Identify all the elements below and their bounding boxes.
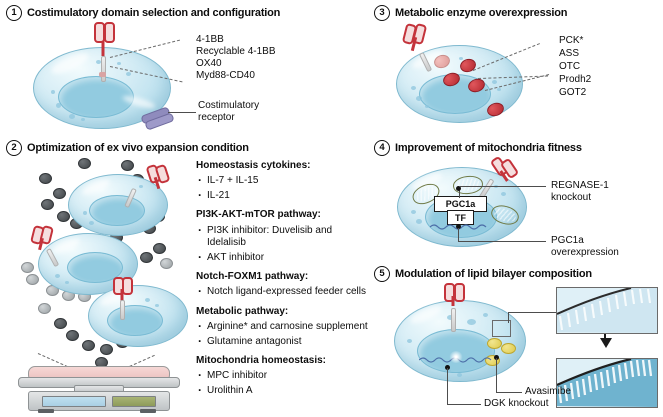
costimulatory-receptor-label-2: receptor — [198, 112, 235, 124]
leader-line — [459, 190, 460, 198]
domain-label-4-1bb: 4-1BB — [196, 34, 224, 46]
group-heading-metabolic-pathway: Metabolic pathway: — [196, 306, 371, 319]
car-intracellular-domain — [120, 300, 125, 320]
list-item: Notch ligand-expressed feeder cells — [196, 286, 371, 298]
costim-domain-marker — [99, 72, 106, 77]
car-receptor-panel5 — [442, 283, 464, 311]
panel-4-number: 4 — [374, 140, 390, 156]
list-item: MPC inhibitor — [196, 370, 371, 382]
vesicle — [117, 62, 121, 65]
leader-line — [496, 392, 522, 393]
list-item: IL-21 — [196, 190, 371, 202]
domain-label-myd88-cd40: Myd88-CD40 — [196, 70, 255, 82]
car-receptor-panel1 — [92, 22, 114, 56]
metabolic-enzyme-vesicle — [485, 101, 505, 119]
domain-label-recyclable-4-1bb: Recyclable 4-1BB — [196, 46, 275, 58]
list-item: Urolithin A — [196, 385, 371, 397]
group-heading-mitochondria-homeostasis: Mitochondria homeostasis: — [196, 355, 371, 368]
vesicle — [69, 114, 75, 119]
panel-2-strategy-list: Homeostasis cytokines: IL-7 + IL-15 IL-2… — [196, 160, 371, 398]
enzyme-label-otc: OTC — [559, 61, 580, 73]
group-heading-notch-foxm1: Notch-FOXM1 pathway: — [196, 271, 371, 284]
panel-4-title: Improvement of mitochondria fitness — [395, 142, 582, 154]
regnase1-label-line1: REGNASE-1 — [551, 180, 609, 192]
car-t-cell-panel2-bottom — [88, 285, 188, 347]
mitochondrion — [452, 174, 484, 195]
transition-arrow-shaft — [604, 334, 606, 344]
lipid-bilayer-diagram — [557, 359, 657, 407]
enzyme-label-ass: ASS — [559, 48, 579, 60]
group-heading-homeostasis-cytokines: Homeostasis cytokines: — [196, 160, 371, 173]
car-intracellular-domain — [101, 56, 106, 82]
costimulatory-receptor-icon — [141, 108, 173, 126]
list-item: AKT inhibitor — [196, 252, 371, 264]
vesicle — [56, 103, 61, 108]
panel-1-title: Costimulatory domain selection and confi… — [27, 7, 280, 19]
panel-1-number: 1 — [6, 5, 22, 21]
cell-highlight — [49, 49, 91, 77]
panel-3-header: 3 Metabolic enzyme overexpression — [374, 5, 567, 21]
panel-1-header: 1 Costimulatory domain selection and con… — [6, 5, 280, 21]
leader-line — [508, 312, 556, 313]
leader-line — [508, 312, 509, 323]
list-item: IL-7 + IL-15 — [196, 175, 371, 187]
car-receptor-panel4 — [492, 157, 516, 185]
car-t-cell-panel5 — [394, 300, 526, 382]
pgc1a-label-line1: PGC1a — [551, 235, 584, 247]
car-receptor-panel2-top — [147, 165, 167, 191]
leader-line — [458, 241, 546, 242]
vesicle — [126, 72, 131, 76]
enzyme-label-got2: GOT2 — [559, 87, 586, 99]
display-screen-left — [42, 396, 106, 407]
leader-line — [447, 404, 481, 405]
list-item: PI3K inhibitor: Duvelisib and Idelalisib — [196, 225, 371, 250]
enzyme-label-prodh2: Prodh2 — [559, 74, 591, 86]
dgk-knockout-label: DGK knockout — [484, 398, 548, 410]
panel-2-title: Optimization of ex vivo expansion condit… — [27, 142, 249, 154]
list-item: Arginine* and carnosine supplement — [196, 321, 371, 333]
panel-2-header: 2 Optimization of ex vivo expansion cond… — [6, 140, 249, 156]
dna-strand-icon — [430, 223, 492, 231]
lipid-bilayer-diagram — [557, 288, 657, 333]
avasimibe-label: Avasimibe — [525, 386, 571, 398]
car-receptor-panel3 — [403, 24, 425, 54]
list-item: Glutamine antagonist — [196, 336, 371, 348]
leader-line — [496, 358, 497, 393]
leader-line — [458, 228, 459, 242]
membrane-inset-after — [556, 358, 658, 408]
membrane-inset-before — [556, 287, 658, 334]
enzyme-label-pck: PCK* — [559, 35, 583, 47]
nuclear-signal-glow — [449, 351, 463, 363]
leader-line — [168, 112, 196, 113]
pgc1a-label-line2: overexpression — [551, 247, 619, 259]
panel-4-header: 4 Improvement of mitochondria fitness — [374, 140, 582, 156]
panel-5-number: 5 — [374, 266, 390, 282]
panel-2-number: 2 — [6, 140, 22, 156]
panel-5-title: Modulation of lipid bilayer composition — [395, 268, 592, 280]
leader-line — [459, 186, 546, 187]
lipid-droplet — [501, 343, 516, 354]
panel-5-header: 5 Modulation of lipid bilayer compositio… — [374, 266, 592, 282]
car-intracellular-domain — [451, 308, 456, 332]
display-screen-right — [112, 396, 156, 407]
panel-3-number: 3 — [374, 5, 390, 21]
panel-3-title: Metabolic enzyme overexpression — [395, 7, 567, 19]
vesicle — [51, 90, 55, 94]
bioreactor-rocker — [16, 366, 181, 414]
costimulatory-receptor-label-1: Costimulatory — [198, 100, 259, 112]
vesicle — [81, 118, 85, 121]
domain-label-ox40: OX40 — [196, 58, 222, 70]
group-heading-pi3k-akt-mtor: PI3K-AKT-mTOR pathway: — [196, 209, 371, 222]
figure-canvas: 1 Costimulatory domain selection and con… — [0, 0, 663, 417]
leader-line — [447, 368, 448, 405]
lipid-droplet — [487, 338, 502, 349]
regnase1-label-line2: knockout — [551, 192, 591, 204]
